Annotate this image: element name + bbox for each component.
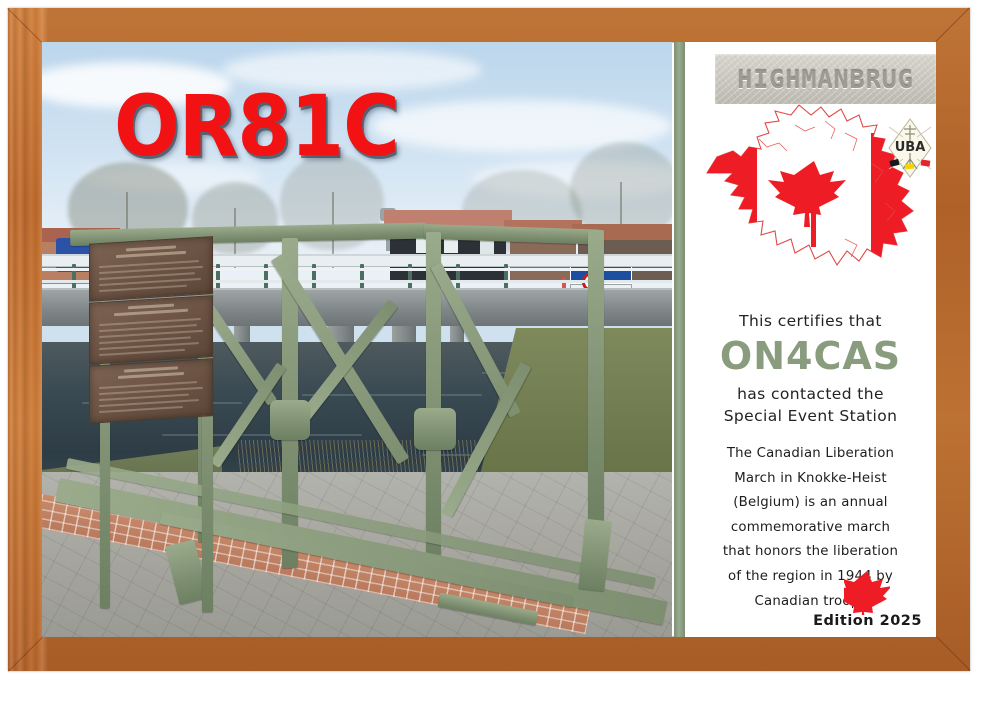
window [444,238,458,253]
memorial-plaques [89,236,211,421]
memorial-plaque [89,295,213,365]
bridge-photo: OR81C [42,42,672,637]
water-ripple [162,434,362,436]
qsl-card: OR81C HIGHMANBRUG [8,8,970,671]
description-line: March in Knokke-Heist [697,467,924,492]
description-line: The Canadian Liberation [697,442,924,467]
uba-label: UBA [895,140,926,155]
description-line: commemorative march [697,516,924,541]
memorial-plaque [89,358,213,424]
card-inner-area: OR81C HIGHMANBRUG [42,42,936,637]
truss-gusset [414,408,456,450]
certificate-panel: HIGHMANBRUG [685,42,936,637]
uba-diamond-logo: UBA [883,117,936,179]
certify-sub-line2: Special Event Station [685,405,936,427]
callsign-title: OR81C [114,84,399,168]
truss-vertical [588,230,604,530]
worked-callsign: ON4CAS [685,337,936,375]
certify-lead: This certifies that [685,312,936,330]
stone-plaque-text: HIGHMANBRUG [715,65,936,94]
stone-plaque: HIGHMANBRUG [715,54,936,104]
certificate-text: This certifies that ON4CAS has contacted… [685,312,936,428]
description-line: (Belgium) is an annual [697,491,924,516]
certify-sub-line1: has contacted the [685,383,936,405]
edition-label: Edition 2025 [685,613,922,629]
memorial-plaque [89,236,213,302]
truss-gusset [270,400,310,440]
description-line: that honors the liberation [697,540,924,565]
vertical-divider [674,42,685,637]
maple-leaf-icon [844,569,890,615]
